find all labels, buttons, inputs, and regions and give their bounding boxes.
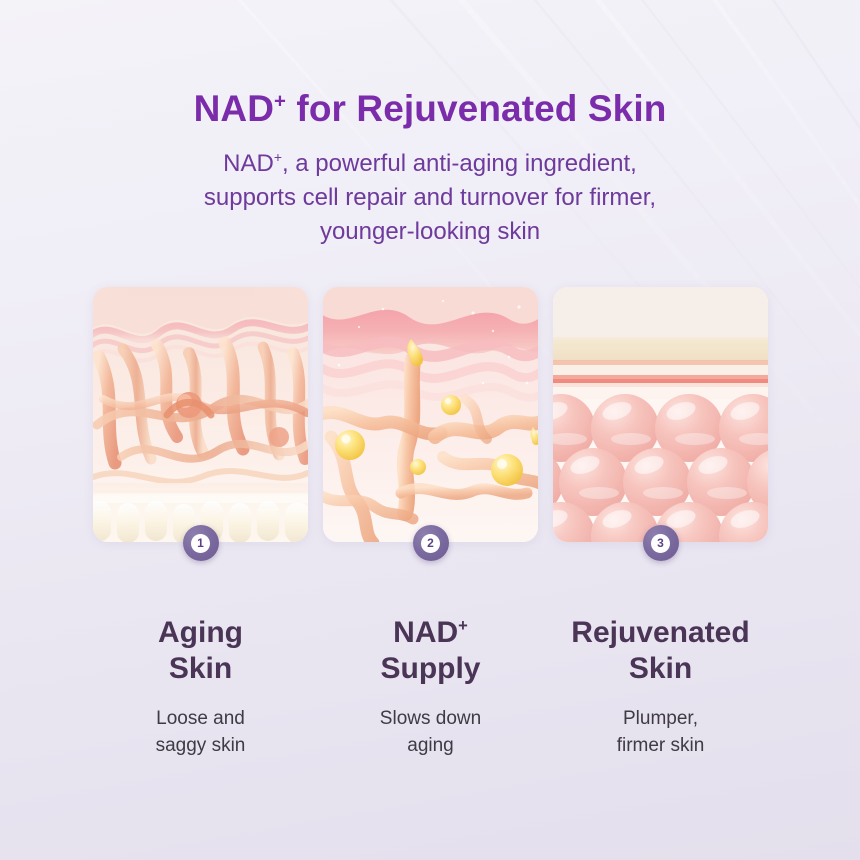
subtitle-line-1-rest: , a powerful anti-aging ingredient, bbox=[282, 150, 637, 177]
nad-supply-droplets-illustration bbox=[323, 287, 538, 542]
page-title-main: NAD bbox=[194, 88, 274, 129]
page-subtitle: NAD+, a powerful anti-aging ingredient, … bbox=[0, 147, 860, 249]
panel-description-1: Loose and saggy skin bbox=[93, 706, 308, 760]
panel-badge-number-2: 2 bbox=[421, 534, 440, 553]
panel-rejuvenated-skin: 3 Rejuvenated Skin Plumper, firmer skin bbox=[553, 287, 768, 760]
panel-heading-2: NAD+ Supply bbox=[323, 580, 538, 686]
panel-badge-number-3: 3 bbox=[651, 534, 670, 553]
page-title-superscript: + bbox=[274, 91, 286, 113]
panel-badge-1: 1 bbox=[183, 525, 219, 561]
panel-nad-supply: 2 NAD+ Supply Slows down aging bbox=[323, 287, 538, 760]
page-title-rest: for Rejuvenated Skin bbox=[286, 88, 666, 129]
panel-heading-1: Aging Skin bbox=[93, 580, 308, 686]
panel-badge-3: 3 bbox=[643, 525, 679, 561]
panels-row: 1 Aging Skin Loose and saggy skin bbox=[93, 287, 768, 760]
subtitle-nad-text: NAD bbox=[223, 150, 274, 177]
panel-heading-3: Rejuvenated Skin bbox=[553, 580, 768, 686]
infographic-canvas: NAD+ for Rejuvenated Skin NAD+, a powerf… bbox=[0, 0, 860, 860]
rejuvenated-skin-thumbnail bbox=[553, 287, 768, 542]
panel-heading-1-rest: Skin bbox=[169, 652, 232, 685]
panel-heading-2-rest: Supply bbox=[380, 652, 480, 685]
page-title: NAD+ for Rejuvenated Skin bbox=[0, 88, 860, 129]
panel-description-3: Plumper, firmer skin bbox=[553, 706, 768, 760]
panel-heading-3-rest: Skin bbox=[629, 652, 692, 685]
panel-description-2: Slows down aging bbox=[323, 706, 538, 760]
nad-supply-thumbnail bbox=[323, 287, 538, 542]
rejuvenated-skin-plump-cells-illustration bbox=[553, 287, 768, 542]
subtitle-line-1: NAD+, a powerful anti-aging ingredient, bbox=[0, 147, 860, 181]
subtitle-line-3: younger-looking skin bbox=[0, 215, 860, 249]
panel-aging-skin: 1 Aging Skin Loose and saggy skin bbox=[93, 287, 308, 760]
subtitle-superscript: + bbox=[274, 149, 282, 165]
aging-skin-collagen-illustration bbox=[93, 287, 308, 542]
aging-skin-thumbnail bbox=[93, 287, 308, 542]
panel-heading-1-main: Aging bbox=[158, 616, 243, 649]
subtitle-line-2: supports cell repair and turnover for fi… bbox=[0, 181, 860, 215]
panel-heading-2-main: NAD bbox=[393, 616, 458, 649]
panel-heading-3-main: Rejuvenated bbox=[571, 616, 749, 649]
panel-badge-number-1: 1 bbox=[191, 534, 210, 553]
panel-heading-2-superscript: + bbox=[458, 617, 468, 635]
panel-badge-2: 2 bbox=[413, 525, 449, 561]
